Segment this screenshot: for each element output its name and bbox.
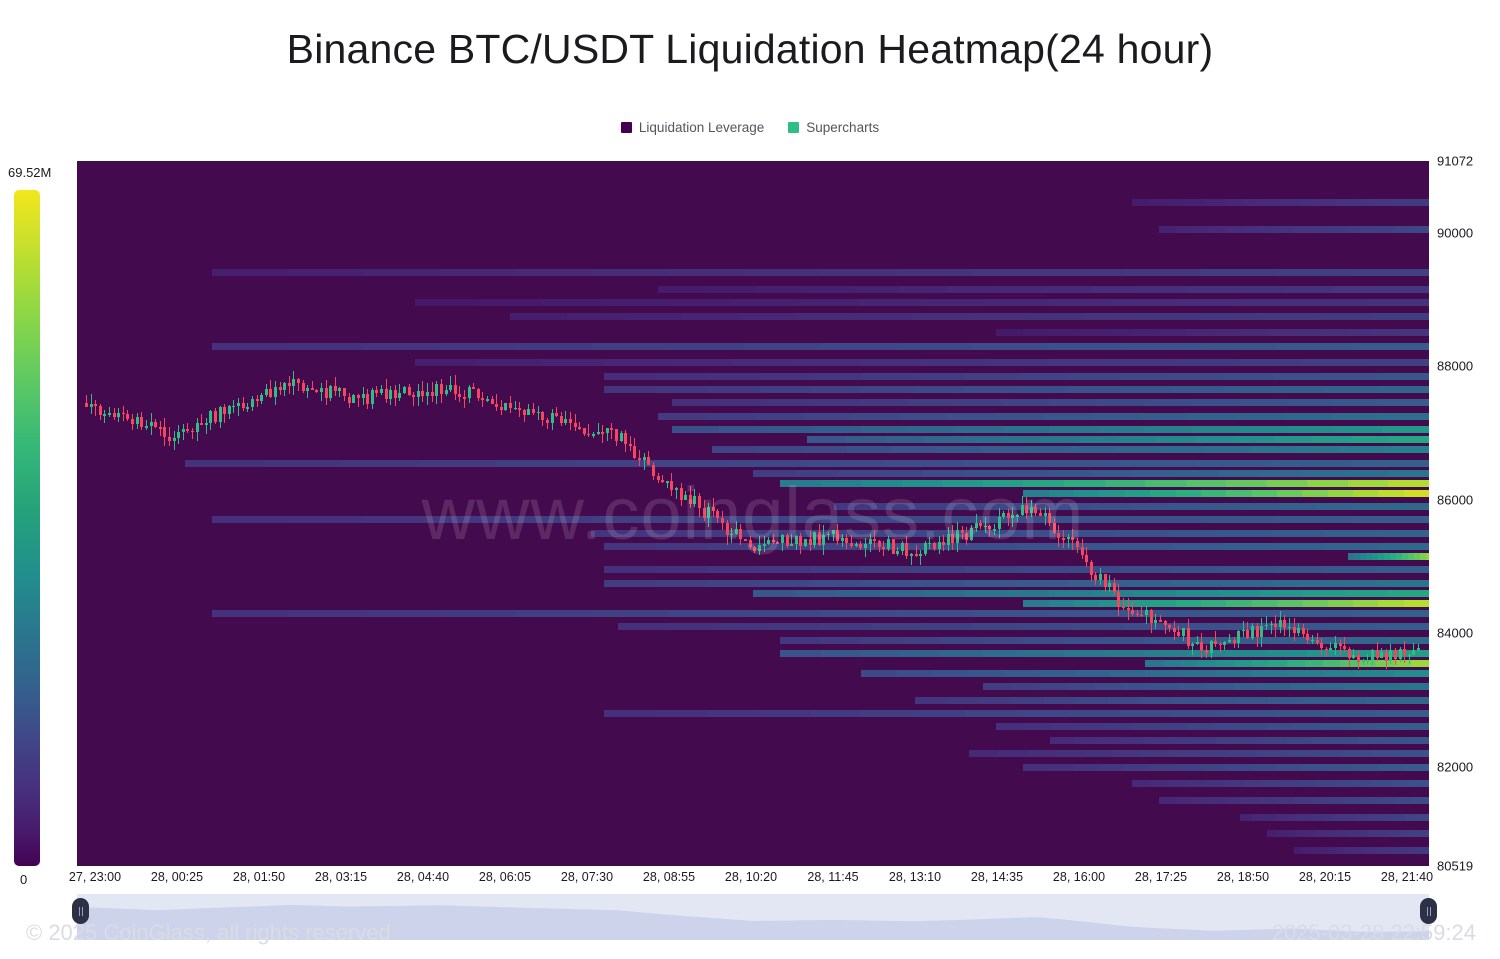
- candle-body: [763, 544, 766, 546]
- candle-body: [541, 412, 544, 420]
- liquidation-band: [1410, 199, 1429, 206]
- price-tick: 86000: [1437, 492, 1473, 507]
- candle-body: [601, 432, 604, 434]
- liquidation-band: [1355, 780, 1375, 787]
- liquidation-band: [364, 610, 442, 617]
- liquidation-band: [968, 670, 1005, 677]
- liquidation-band: [821, 623, 873, 630]
- candle-body: [1191, 644, 1194, 646]
- liquidation-band: [1223, 373, 1276, 380]
- liquidation-band: [821, 269, 899, 276]
- watermark: www.coinglass.com: [77, 161, 1429, 866]
- candle-wick: [1146, 606, 1147, 624]
- candle-body: [122, 413, 125, 415]
- liquidation-band: [1421, 847, 1429, 854]
- liquidation-band: [1150, 490, 1177, 497]
- liquidation-band: [1236, 286, 1286, 293]
- liquidation-band: [947, 697, 981, 704]
- liquidation-band: [1387, 590, 1429, 597]
- time-tick: 28, 00:25: [151, 870, 203, 884]
- liquidation-band: [1209, 797, 1227, 804]
- liquidation-band: [1157, 436, 1197, 443]
- liquidation-band: [1277, 343, 1355, 350]
- liquidation-band: [1328, 764, 1355, 771]
- liquidation-band: [885, 460, 964, 467]
- liquidation-band: [1206, 683, 1235, 690]
- liquidation-band: [1206, 199, 1226, 206]
- candle-body: [1362, 660, 1365, 662]
- liquidation-band: [1333, 413, 1383, 420]
- liquidation-band: [1280, 503, 1319, 510]
- liquidation-band: [1003, 670, 1040, 677]
- liquidation-band: [1091, 470, 1135, 477]
- liquidation-band: [1159, 329, 1188, 336]
- liquidation-band: [1176, 764, 1203, 771]
- liquidation-band: [1121, 737, 1146, 744]
- liquidation-band: [1312, 436, 1352, 443]
- candle-body: [979, 523, 982, 526]
- liquidation-band: [212, 343, 290, 350]
- candle-body: [1182, 628, 1185, 636]
- liquidation-band: [719, 399, 768, 406]
- liquidation-band: [1355, 199, 1375, 206]
- liquidation-band: [1262, 683, 1291, 690]
- liquidation-band: [1252, 660, 1271, 667]
- liquidation-band: [1314, 313, 1373, 320]
- candle-body: [684, 495, 687, 500]
- liquidation-band: [983, 650, 1025, 657]
- liquidation-band: [1240, 723, 1269, 730]
- liquidation-band: [1274, 710, 1327, 717]
- liquidation-band: [1262, 780, 1282, 787]
- candle-body: [426, 392, 429, 396]
- price-tick: 91072: [1437, 154, 1473, 169]
- liquidation-band: [1201, 269, 1279, 276]
- liquidation-band: [862, 566, 915, 573]
- liquidation-band: [1205, 446, 1251, 453]
- liquidation-band: [821, 343, 899, 350]
- liquidation-band: [1003, 426, 1052, 433]
- candle-body: [1403, 649, 1406, 655]
- liquidation-band: [810, 373, 863, 380]
- liquidation-band: [1105, 329, 1134, 336]
- candle-wick: [464, 390, 465, 407]
- liquidation-band: [1404, 764, 1429, 771]
- candle-body: [297, 379, 300, 383]
- liquidation-band: [1049, 343, 1127, 350]
- liquidation-band: [802, 446, 848, 453]
- liquidation-band: [212, 610, 290, 617]
- liquidation-band: [1133, 590, 1177, 597]
- liquidation-band: [1252, 670, 1289, 677]
- liquidation-band: [880, 590, 924, 597]
- liquidation-band: [915, 697, 949, 704]
- liquidation-band: [1145, 637, 1187, 644]
- liquidation-band: [1226, 226, 1244, 233]
- liquidation-band: [1077, 723, 1106, 730]
- liquidation-band: [922, 359, 987, 366]
- liquidation-band: [1176, 490, 1203, 497]
- candle-body: [1316, 640, 1319, 643]
- liquidation-band: [1094, 503, 1133, 510]
- candle-body: [583, 428, 586, 434]
- candle-body: [716, 511, 719, 518]
- liquidation-band: [1353, 490, 1380, 497]
- liquidation-band: [1334, 737, 1359, 744]
- candle-body: [1385, 652, 1388, 662]
- liquidation-band: [1199, 750, 1229, 757]
- liquidation-band: [1243, 797, 1261, 804]
- liquidation-band: [1294, 723, 1323, 730]
- liquidation-band: [964, 590, 1008, 597]
- candle-body: [799, 536, 802, 545]
- liquidation-band: [965, 386, 1018, 393]
- candle-body: [1394, 650, 1397, 659]
- liquidation-band: [1417, 814, 1429, 821]
- liquidation-band: [643, 530, 697, 537]
- liquidation-band: [753, 590, 797, 597]
- candle-body: [1343, 646, 1346, 649]
- candle-body: [721, 518, 724, 523]
- candle-body: [647, 457, 650, 465]
- liquidation-band: [853, 530, 907, 537]
- candle-body: [385, 389, 388, 399]
- candle-body: [1256, 626, 1259, 638]
- liquidation-band: [1366, 299, 1429, 306]
- candle-body: [1067, 537, 1070, 539]
- liquidation-band: [1192, 737, 1217, 744]
- liquidation-band: [1125, 600, 1152, 607]
- candle-body: [961, 530, 964, 533]
- liquidation-band: [1287, 426, 1336, 433]
- candle-body: [1044, 513, 1047, 516]
- liquidation-band: [1375, 329, 1404, 336]
- liquidation-band: [1317, 780, 1337, 787]
- candle-body: [984, 526, 987, 528]
- liquidation-band: [1377, 580, 1429, 587]
- candle-body: [260, 395, 263, 401]
- candle-body: [85, 403, 88, 407]
- liquidation-band: [1068, 386, 1121, 393]
- liquidation-band: [440, 343, 518, 350]
- candle-body: [306, 388, 309, 391]
- liquidation-band: [1226, 650, 1268, 657]
- liquidation-band: [1068, 373, 1121, 380]
- candle-body: [523, 410, 526, 415]
- liquidation-band: [604, 710, 657, 717]
- candle-body: [965, 533, 968, 540]
- candle-wick: [238, 398, 239, 416]
- liquidation-band: [1400, 750, 1429, 757]
- liquidation-band: [1001, 436, 1041, 443]
- liquidation-band: [1192, 226, 1210, 233]
- liquidation-band: [795, 299, 860, 306]
- liquidation-band: [1378, 764, 1405, 771]
- liquidation-band: [1321, 723, 1350, 730]
- liquidation-band: [1243, 780, 1263, 787]
- liquidation-band: [1023, 490, 1050, 497]
- candle-body: [94, 404, 97, 406]
- liquidation-band: [795, 359, 860, 366]
- liquidation-band: [1187, 780, 1207, 787]
- candle-body: [1002, 513, 1005, 518]
- liquidation-band: [656, 566, 709, 573]
- candle-wick: [565, 411, 566, 424]
- liquidation-band: [1201, 490, 1228, 497]
- liquidation-band: [810, 386, 863, 393]
- liquidation-band: [591, 530, 645, 537]
- candle-body: [597, 432, 600, 434]
- liquidation-band: [1049, 299, 1114, 306]
- liquidation-band: [814, 426, 863, 433]
- liquidation-band: [1206, 503, 1245, 510]
- liquidation-band: [1142, 313, 1201, 320]
- liquidation-band: [956, 399, 1005, 406]
- candle-body: [117, 413, 120, 417]
- candle-body: [1306, 634, 1309, 640]
- liquidation-band: [1240, 399, 1289, 406]
- liquidation-band: [364, 516, 442, 523]
- liquidation-band: [1192, 426, 1241, 433]
- liquidation-band: [797, 313, 856, 320]
- liquidation-band: [1132, 503, 1171, 510]
- liquidation-band: [1353, 269, 1429, 276]
- liquidation-band: [1377, 543, 1429, 550]
- candle-body: [698, 496, 701, 508]
- candle-body: [919, 554, 922, 556]
- candle-body: [223, 407, 226, 415]
- liquidation-band: [1017, 580, 1070, 587]
- liquidation-band: [1402, 329, 1429, 336]
- liquidation-band: [1120, 386, 1173, 393]
- candle-wick: [1132, 602, 1133, 616]
- liquidation-band: [1381, 286, 1429, 293]
- liquidation-band: [936, 446, 982, 453]
- liquidation-band: [861, 670, 898, 677]
- liquidation-band: [1404, 600, 1429, 607]
- candle-body: [841, 538, 844, 541]
- liquidation-band: [973, 269, 1051, 276]
- time-tick: 27, 23:00: [69, 870, 121, 884]
- liquidation-band: [1056, 750, 1086, 757]
- liquidation-band: [1301, 697, 1335, 704]
- liquidation-band: [767, 399, 816, 406]
- liquidation-band: [1333, 286, 1383, 293]
- liquidation-band: [810, 580, 863, 587]
- legend-item-liquidation-leverage[interactable]: Liquidation Leverage: [621, 120, 764, 135]
- legend-item-supercharts[interactable]: Supercharts: [788, 120, 879, 135]
- liquidation-band: [1302, 470, 1346, 477]
- liquidation-band: [880, 470, 924, 477]
- liquidation-band: [1186, 329, 1215, 336]
- liquidation-band: [1348, 480, 1390, 487]
- liquidation-band: [1328, 623, 1380, 630]
- liquidation-band: [985, 299, 1050, 306]
- liquidation-band: [1187, 199, 1207, 206]
- liquidation-band: [1105, 723, 1134, 730]
- candle-body: [786, 535, 789, 546]
- liquidation-band: [1365, 697, 1399, 704]
- liquidation-band: [604, 373, 657, 380]
- liquidation-band: [914, 580, 967, 587]
- liquidation-band: [1239, 359, 1304, 366]
- liquidation-band: [1240, 737, 1265, 744]
- liquidation-band: [1196, 436, 1236, 443]
- liquidation-band: [859, 299, 924, 306]
- time-tick: 28, 06:05: [479, 870, 531, 884]
- candle-body: [1164, 621, 1167, 625]
- liquidation-band: [985, 359, 1050, 366]
- candle-body: [564, 419, 567, 422]
- candle-body: [1099, 574, 1102, 580]
- candle-body: [1283, 620, 1286, 628]
- liquidation-band: [908, 503, 947, 510]
- candle-body: [1177, 632, 1180, 636]
- liquidation-band: [1023, 637, 1065, 644]
- candle-body: [283, 383, 286, 390]
- liquidation-band: [1402, 723, 1429, 730]
- liquidation-band: [996, 413, 1046, 420]
- liquidation-band: [1171, 566, 1224, 573]
- candle-body: [675, 488, 678, 490]
- liquidation-band: [1250, 446, 1296, 453]
- liquidation-band: [1023, 764, 1050, 771]
- time-tick: 28, 17:25: [1135, 870, 1187, 884]
- candle-body: [196, 423, 199, 432]
- liquidation-band: [1392, 503, 1429, 510]
- liquidation-band: [1201, 343, 1279, 350]
- legend-swatch-supercharts: [788, 122, 799, 133]
- candle-body: [1329, 648, 1332, 650]
- liquidation-band: [1274, 373, 1327, 380]
- liquidation-band: [1120, 580, 1173, 587]
- liquidation-band: [745, 516, 823, 523]
- candle-body: [1242, 630, 1245, 632]
- candle-body: [1057, 533, 1060, 538]
- candle-body: [1399, 649, 1402, 659]
- liquidation-band: [1302, 600, 1329, 607]
- candle-body: [592, 434, 595, 436]
- candle-body: [311, 388, 314, 390]
- candle-body: [878, 541, 881, 547]
- liquidation-band: [542, 299, 607, 306]
- liquidation-band: [908, 426, 957, 433]
- liquidation-band: [418, 460, 497, 467]
- liquidation-band: [592, 516, 670, 523]
- liquidation-band: [755, 413, 805, 420]
- candle-body: [1260, 626, 1263, 637]
- liquidation-band: [1120, 373, 1173, 380]
- liquidation-band: [1171, 386, 1224, 393]
- liquidation-band: [1236, 413, 1286, 420]
- liquidation-band: [1372, 750, 1402, 757]
- liquidation-band: [1159, 226, 1177, 233]
- liquidation-band: [1377, 566, 1429, 573]
- liquidation-band: [1098, 399, 1147, 406]
- candle-body: [1108, 583, 1111, 587]
- candle-body: [219, 407, 222, 423]
- liquidation-band: [510, 313, 569, 320]
- colorbar-max-label: 69.52M: [8, 165, 51, 180]
- candle-body: [951, 534, 954, 544]
- liquidation-band: [1326, 566, 1379, 573]
- candle-body: [555, 413, 558, 415]
- liquidation-band: [942, 480, 984, 487]
- candle-body: [753, 547, 756, 551]
- heatmap-plot-area[interactable]: www.coinglass.com: [77, 161, 1429, 866]
- liquidation-band: [897, 269, 975, 276]
- chart-legend: Liquidation Leverage Supercharts: [0, 120, 1500, 135]
- liquidation-band: [1188, 286, 1238, 293]
- liquidation-band: [707, 386, 760, 393]
- liquidation-band: [1213, 723, 1242, 730]
- liquidation-band: [712, 446, 758, 453]
- candle-body: [408, 387, 411, 394]
- liquidation-band: [604, 386, 657, 393]
- candle-body: [491, 399, 494, 404]
- liquidation-band: [618, 623, 670, 630]
- liquidation-band: [1305, 660, 1324, 667]
- candle-body: [375, 390, 378, 393]
- liquidation-band: [759, 566, 812, 573]
- candle-body: [325, 388, 328, 399]
- candle-body: [191, 431, 194, 433]
- liquidation-band: [1118, 436, 1158, 443]
- candle-body: [251, 399, 254, 407]
- candle-body: [680, 488, 683, 500]
- liquidation-band: [1115, 530, 1169, 537]
- candle-body: [928, 543, 931, 545]
- candle-body: [237, 403, 240, 405]
- liquidation-band: [288, 343, 366, 350]
- liquidation-band: [1142, 750, 1172, 757]
- liquidation-band: [719, 623, 771, 630]
- liquidation-band: [1176, 797, 1194, 804]
- liquidation-band: [669, 610, 747, 617]
- liquidation-band: [1263, 737, 1288, 744]
- candle-body: [942, 542, 945, 545]
- liquidation-band: [1294, 329, 1323, 336]
- candle-body: [389, 390, 392, 399]
- liquidation-band: [1410, 780, 1429, 787]
- liquidation-band: [862, 710, 915, 717]
- liquidation-band: [1066, 683, 1095, 690]
- liquidation-band: [1392, 780, 1412, 787]
- liquidation-band: [757, 446, 803, 453]
- liquidation-band: [1280, 199, 1300, 206]
- liquidation-band: [1011, 683, 1040, 690]
- price-tick: 90000: [1437, 225, 1473, 240]
- candle-body: [707, 507, 710, 518]
- liquidation-band: [516, 610, 594, 617]
- time-tick: 28, 14:35: [971, 870, 1023, 884]
- liquidation-band: [1176, 590, 1220, 597]
- liquidation-band: [1355, 503, 1394, 510]
- candle-body: [1090, 562, 1093, 575]
- liquidation-band: [1023, 723, 1052, 730]
- candle-body: [638, 458, 641, 460]
- liquidation-band: [1328, 226, 1346, 233]
- liquidation-band: [574, 460, 653, 467]
- candle-body: [1076, 541, 1079, 547]
- candle-wick: [187, 423, 188, 433]
- liquidation-band: [1125, 343, 1203, 350]
- copyright-text: © 2025 CoinGlass, all rights reserved: [26, 920, 391, 946]
- liquidation-band: [212, 269, 290, 276]
- liquidation-band: [1317, 503, 1356, 510]
- candle-body: [182, 429, 185, 432]
- colorbar: [14, 190, 40, 866]
